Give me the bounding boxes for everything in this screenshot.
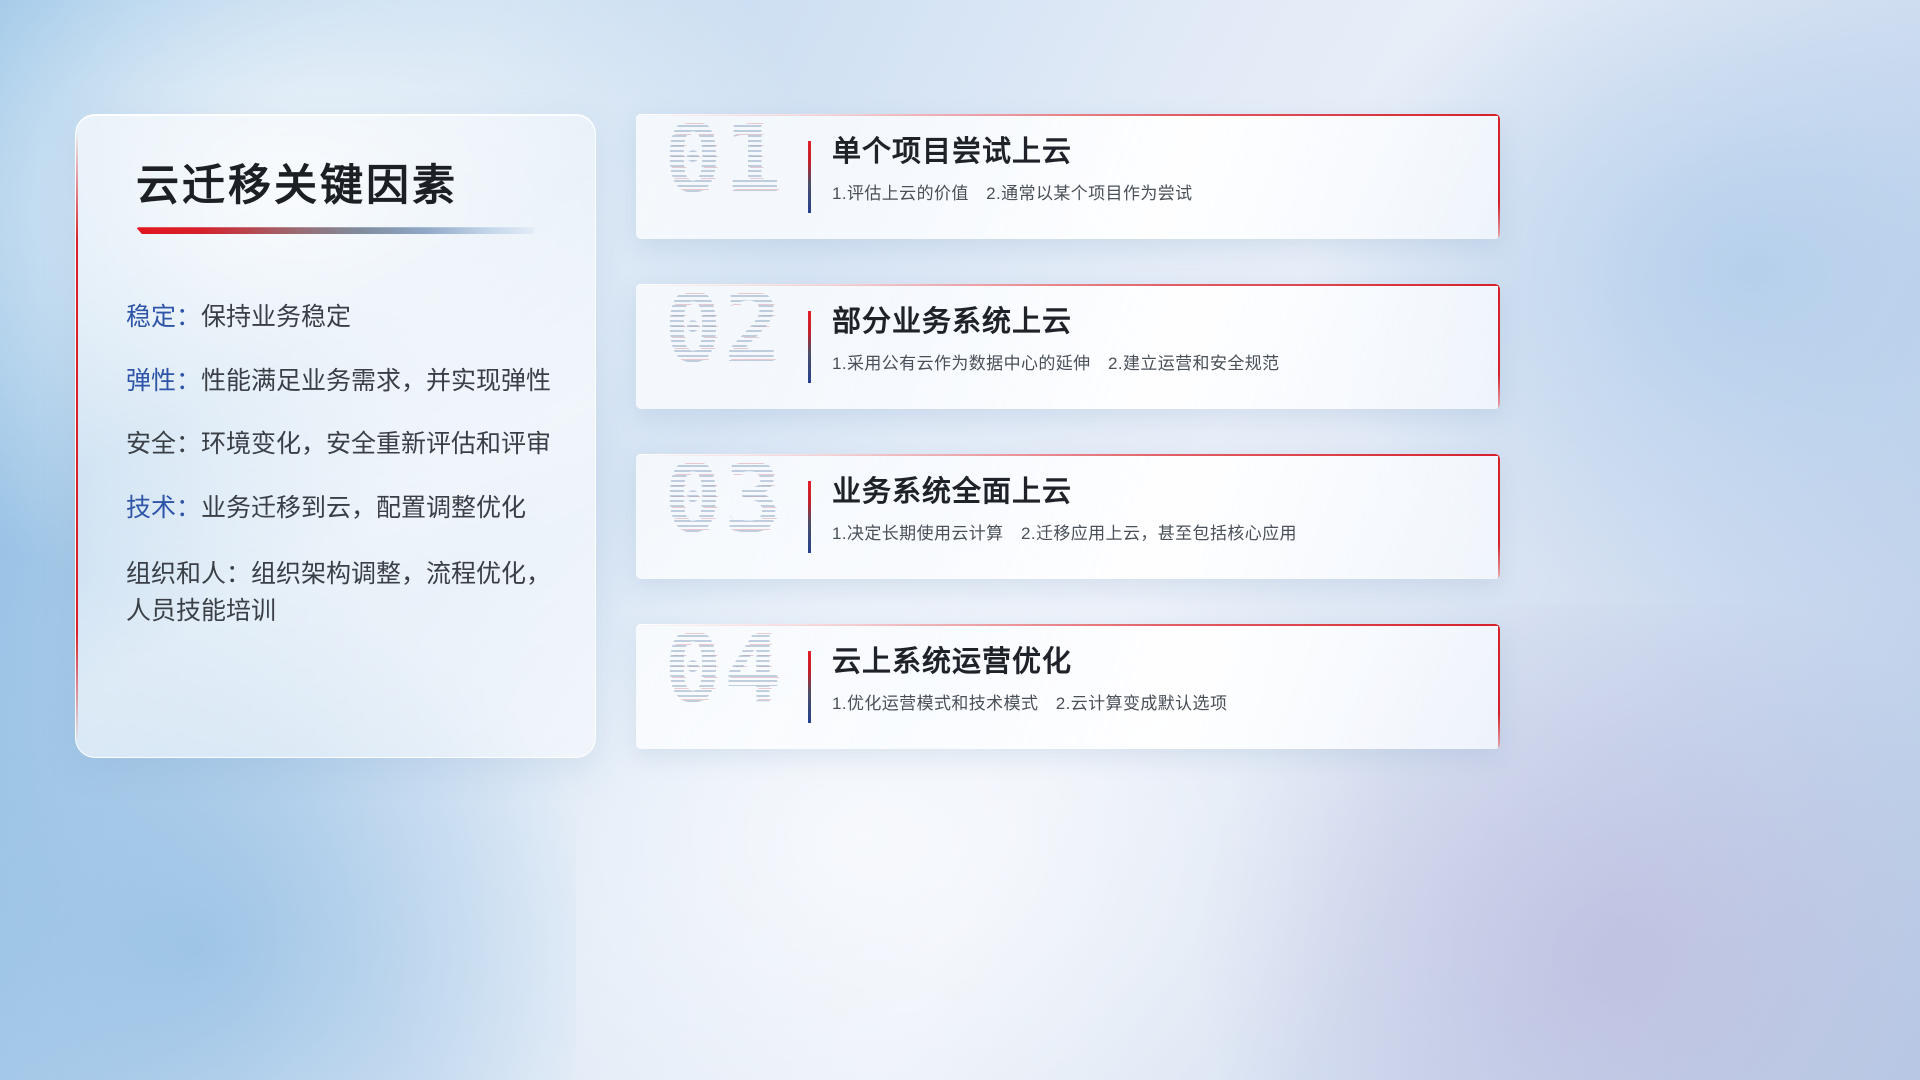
step-number-text: 03 <box>664 462 784 546</box>
step-number-text: 04 <box>664 632 784 716</box>
factor-key: 安全： <box>126 430 201 458</box>
step-content: 云上系统运营优化 1.优化运营模式和技术模式 2.云计算变成默认选项 <box>832 646 1474 732</box>
factor-key: 稳定： <box>126 303 201 331</box>
migration-steps-list: 01 01 单个项目尝试上云 1.评估上云的价值 2.通常以某个项目作为尝试 0… <box>636 114 1500 749</box>
list-item: 安全：环境变化，安全重新评估和评审 <box>126 429 555 460</box>
step-number-watermark: 01 01 <box>664 122 804 234</box>
card-top-edge-accent <box>636 624 1500 626</box>
factor-value: 性能满足业务需求，并实现弹性 <box>201 367 551 395</box>
step-title: 业务系统全面上云 <box>832 476 1474 509</box>
step-divider-bar <box>808 141 811 213</box>
step-title: 部分业务系统上云 <box>832 306 1474 339</box>
page-title: 云迁移关键因素 <box>126 163 555 210</box>
list-item: 弹性：性能满足业务需求，并实现弹性 <box>126 366 555 397</box>
step-card-03[interactable]: 03 03 业务系统全面上云 1.决定长期使用云计算 2.迁移应用上云，甚至包括… <box>636 454 1500 579</box>
step-card-01[interactable]: 01 01 单个项目尝试上云 1.评估上云的价值 2.通常以某个项目作为尝试 <box>636 114 1500 239</box>
step-content: 部分业务系统上云 1.采用公有云作为数据中心的延伸 2.建立运营和安全规范 <box>832 306 1474 392</box>
step-card-04[interactable]: 04 04 云上系统运营优化 1.优化运营模式和技术模式 2.云计算变成默认选项 <box>636 624 1500 749</box>
list-item: 技术：业务迁移到云，配置调整优化 <box>126 493 555 524</box>
key-factors-list: 稳定：保持业务稳定 弹性：性能满足业务需求，并实现弹性 安全：环境变化，安全重新… <box>126 302 555 629</box>
card-top-edge-accent <box>636 284 1500 286</box>
card-right-edge-accent <box>1498 624 1500 749</box>
step-number-watermark: 02 02 <box>664 292 804 404</box>
list-item: 组织和人：组织架构调整，流程优化，人员技能培训 <box>126 556 555 629</box>
step-card-02[interactable]: 02 02 部分业务系统上云 1.采用公有云作为数据中心的延伸 2.建立运营和安… <box>636 284 1500 409</box>
step-number-watermark: 04 04 <box>664 632 804 744</box>
card-right-edge-accent <box>1498 114 1500 239</box>
step-description: 1.采用公有云作为数据中心的延伸 2.建立运营和安全规范 <box>832 353 1474 375</box>
slide-canvas: 云迁移关键因素 稳定：保持业务稳定 弹性：性能满足业务需求，并实现弹性 安全：环… <box>0 0 1920 1080</box>
step-description: 1.优化运营模式和技术模式 2.云计算变成默认选项 <box>832 693 1474 715</box>
card-right-edge-accent <box>1498 454 1500 579</box>
step-description: 1.决定长期使用云计算 2.迁移应用上云，甚至包括核心应用 <box>832 523 1474 545</box>
card-top-edge-accent <box>636 454 1500 456</box>
key-factors-panel: 云迁移关键因素 稳定：保持业务稳定 弹性：性能满足业务需求，并实现弹性 安全：环… <box>75 114 596 758</box>
step-description: 1.评估上云的价值 2.通常以某个项目作为尝试 <box>832 183 1474 205</box>
card-top-edge-accent <box>636 114 1500 116</box>
factor-value: 业务迁移到云，配置调整优化 <box>201 494 526 522</box>
factor-value: 保持业务稳定 <box>201 303 351 331</box>
step-content: 业务系统全面上云 1.决定长期使用云计算 2.迁移应用上云，甚至包括核心应用 <box>832 476 1474 562</box>
step-divider-bar <box>808 651 811 723</box>
key-factors-panel-inner: 云迁移关键因素 稳定：保持业务稳定 弹性：性能满足业务需求，并实现弹性 安全：环… <box>76 115 595 757</box>
step-title: 云上系统运营优化 <box>832 646 1474 679</box>
step-divider-bar <box>808 311 811 383</box>
step-content: 单个项目尝试上云 1.评估上云的价值 2.通常以某个项目作为尝试 <box>832 136 1474 222</box>
list-item: 稳定：保持业务稳定 <box>126 302 555 333</box>
factor-value: 环境变化，安全重新评估和评审 <box>201 430 551 458</box>
step-number-watermark: 03 03 <box>664 462 804 574</box>
card-right-edge-accent <box>1498 284 1500 409</box>
title-underline-rule <box>136 227 536 234</box>
step-number-text: 01 <box>664 122 784 206</box>
factor-key: 技术： <box>126 494 201 522</box>
step-title: 单个项目尝试上云 <box>832 136 1474 169</box>
factor-key: 组织和人： <box>126 560 251 588</box>
factor-key: 弹性： <box>126 367 201 395</box>
step-number-text: 02 <box>664 292 784 376</box>
step-divider-bar <box>808 481 811 553</box>
